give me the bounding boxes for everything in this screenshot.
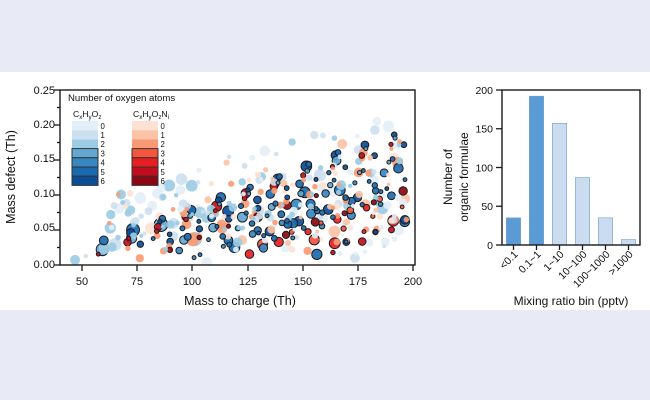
scatter-point: [224, 160, 230, 166]
scatter-point: [271, 188, 277, 194]
scatter-point: [201, 257, 211, 267]
scatter-point: [333, 171, 338, 176]
scatter-point: [343, 195, 349, 201]
scatter-point: [288, 138, 295, 145]
legend-swatches: 00112233445566: [72, 121, 166, 186]
scatter-point: [303, 247, 311, 255]
scatter-point: [289, 246, 295, 252]
bar-ytick-label-50: 50: [481, 201, 493, 213]
scatter-xtick-2: 100: [183, 276, 201, 288]
scatter-point: [301, 173, 306, 178]
scatter-point: [263, 167, 268, 172]
scatter-point: [358, 238, 366, 246]
legend-level-label-blue-5: 5: [101, 168, 106, 177]
scatter-point: [306, 174, 313, 181]
scatter-point: [241, 192, 246, 197]
scatter-point: [99, 236, 108, 245]
scatter-point: [233, 237, 243, 247]
scatter-point: [249, 221, 255, 227]
scatter-point: [388, 192, 396, 200]
bar-x-ticks: <0.10.1~11~1010~100100~1000>1000: [497, 245, 635, 290]
scatter-xtick-6: 200: [404, 276, 422, 288]
scatter-point: [403, 178, 407, 182]
scatter-svg: Mass defect (Th) 0.25 0.20 0.15 0.10 0.0…: [0, 72, 440, 310]
scatter-point: [207, 238, 211, 242]
legend-swatch-red-3: [132, 149, 158, 158]
scatter-point: [154, 229, 159, 234]
scatter-point: [337, 139, 347, 149]
scatter-point: [196, 226, 202, 232]
scatter-point: [259, 177, 263, 181]
scatter-point: [177, 206, 184, 213]
legend-swatch-blue-1: [72, 130, 98, 139]
scatter-point: [314, 194, 318, 198]
scatter-point: [163, 247, 168, 252]
scatter-point: [388, 227, 394, 233]
scatter-point: [106, 210, 115, 219]
bar-xtick-label-1: 0.1~1: [516, 249, 543, 276]
legend-swatch-blue-5: [72, 167, 98, 176]
legend-column1-header: CxHyOz: [73, 109, 101, 121]
scatter-point: [392, 213, 397, 218]
scatter-panel: Mass defect (Th) 0.25 0.20 0.15 0.10 0.0…: [0, 72, 440, 310]
scatter-point: [347, 207, 354, 214]
scatter-point: [96, 252, 100, 256]
scatter-xtick-3: 125: [239, 276, 257, 288]
scatter-point: [332, 178, 336, 182]
scatter-point: [360, 203, 364, 207]
scatter-point: [186, 180, 198, 192]
scatter-point: [395, 194, 402, 201]
scatter-ytick-1: 0.20: [34, 119, 55, 131]
scatter-point: [231, 214, 237, 220]
bars-group: [506, 96, 635, 245]
scatter-point: [373, 117, 382, 126]
legend-title: Number of oxygen atoms: [68, 93, 175, 104]
bar-ytick-label-150: 150: [475, 124, 493, 136]
scatter-point: [192, 256, 196, 260]
scatter-xtick-5: 175: [349, 276, 367, 288]
scatter-point: [158, 219, 162, 223]
scatter-y-axis-title: Mass defect (Th): [4, 130, 18, 224]
scatter-point: [274, 152, 279, 157]
scatter-point: [342, 211, 347, 216]
scatter-point: [331, 205, 335, 209]
scatter-point: [137, 241, 143, 247]
scatter-point: [306, 161, 312, 167]
scatter-point: [84, 254, 88, 258]
scatter-point: [331, 167, 335, 171]
scatter-y-ticks: 0.25 0.20 0.15 0.10 0.05 0.00: [34, 85, 60, 271]
scatter-point: [166, 220, 174, 228]
scatter-point: [242, 163, 248, 169]
bar-chart-svg: Number of organic formulae 050100150200 …: [430, 72, 650, 310]
scatter-point: [134, 192, 146, 204]
scatter-point: [386, 173, 391, 178]
scatter-point: [171, 207, 176, 212]
scatter-x-axis-title: Mass to charge (Th): [184, 294, 296, 308]
bar-xtick-label-5: >1000: [606, 249, 635, 278]
scatter-point: [370, 125, 380, 135]
legend-level-label-red-5: 5: [161, 168, 166, 177]
scatter-point: [363, 250, 367, 254]
scatter-point: [331, 250, 335, 254]
scatter-point: [290, 183, 295, 188]
scatter-point: [299, 215, 303, 219]
scatter-point: [222, 214, 227, 219]
scatter-point: [392, 236, 398, 242]
scatter-point: [372, 211, 376, 215]
scatter-point: [201, 209, 205, 213]
scatter-point: [337, 182, 341, 186]
scatter-point: [312, 249, 322, 259]
scatter-point: [332, 135, 338, 141]
scatter-point: [371, 200, 376, 205]
legend-swatch-blue-6: [72, 176, 98, 185]
scatter-point: [250, 155, 256, 161]
scatter-point: [220, 234, 226, 240]
bar-chart-panel: Number of organic formulae 050100150200 …: [430, 72, 650, 310]
scatter-point: [298, 191, 304, 197]
scatter-point: [125, 246, 130, 251]
legend-level-label-blue-2: 2: [101, 140, 105, 149]
bar-ytick-label-0: 0: [487, 240, 493, 252]
scatter-point: [338, 155, 343, 160]
scatter-point: [289, 212, 295, 218]
scatter-point: [233, 247, 239, 253]
bar-y-axis-title-text2: organic formulae: [457, 132, 471, 222]
scatter-point: [347, 170, 353, 176]
scatter-point: [371, 169, 376, 174]
scatter-point: [353, 181, 357, 185]
bar-0[interactable]: [506, 218, 520, 245]
scatter-point: [331, 215, 336, 220]
scatter-point: [341, 226, 346, 231]
scatter-point: [301, 226, 306, 231]
scatter-point: [209, 181, 214, 186]
scatter-point: [151, 237, 155, 241]
bar-ytick-label-200: 200: [475, 85, 493, 97]
bar-y-ticks: 050100150200: [475, 85, 502, 252]
legend-swatch-red-5: [132, 167, 158, 176]
bar-ytick-label-100: 100: [475, 162, 493, 174]
scatter-point: [400, 205, 404, 209]
oxygen-legend: Number of oxygen atoms CxHyOz CxHyOzNi 0…: [68, 93, 175, 186]
scatter-point: [362, 230, 366, 234]
scatter-point: [310, 131, 318, 139]
scatter-point: [367, 155, 373, 161]
scatter-point: [138, 213, 144, 219]
scatter-point: [221, 244, 225, 248]
scatter-point: [197, 235, 201, 239]
scatter-point: [278, 211, 285, 218]
scatter-point: [136, 254, 144, 262]
scatter-point: [382, 245, 386, 249]
legend-swatch-red-4: [132, 158, 158, 167]
scatter-point: [238, 203, 243, 208]
scatter-point: [379, 190, 383, 194]
scatter-point: [198, 253, 202, 257]
scatter-point: [70, 255, 80, 265]
scatter-xtick-0: 50: [76, 276, 88, 288]
scatter-point: [336, 190, 341, 195]
scatter-point: [344, 240, 348, 244]
scatter-point: [401, 142, 407, 148]
scatter-point: [272, 220, 278, 226]
scatter-point: [285, 240, 291, 246]
scatter-point: [378, 225, 384, 231]
scatter-point: [359, 153, 365, 159]
bar-y-axis-title: Number of organic formulae: [441, 132, 471, 222]
scatter-point: [389, 142, 393, 146]
scatter-point: [247, 178, 252, 183]
scatter-ytick-0: 0.25: [34, 85, 55, 97]
scatter-point: [249, 231, 256, 238]
legend-swatch-blue-3: [72, 149, 98, 158]
scatter-point: [116, 192, 120, 196]
scatter-point: [277, 174, 283, 180]
scatter-point: [314, 177, 318, 181]
scatter-point: [176, 247, 183, 254]
scatter-point: [310, 192, 315, 197]
scatter-point: [327, 170, 331, 174]
scatter-point: [322, 190, 329, 197]
scatter-point: [205, 211, 210, 216]
scatter-xtick-4: 150: [294, 276, 312, 288]
scatter-point: [175, 221, 179, 225]
scatter-point: [209, 214, 214, 219]
scatter-point: [279, 220, 285, 226]
scatter-point: [142, 231, 146, 235]
scatter-point: [215, 225, 219, 229]
scatter-point: [357, 170, 361, 174]
scatter-point: [139, 234, 143, 238]
scatter-point: [397, 139, 402, 144]
scatter-point: [377, 213, 383, 219]
scatter-point: [265, 214, 269, 218]
scatter-point: [365, 170, 372, 177]
scatter-point: [367, 180, 371, 184]
scatter-point: [334, 239, 341, 246]
bar-y-axis-title-text: Number of: [441, 148, 455, 205]
legend-level-label-blue-1: 1: [101, 131, 105, 140]
scatter-point: [384, 201, 392, 209]
scatter-point: [343, 165, 348, 170]
scatter-point: [404, 217, 409, 222]
scatter-point: [227, 242, 232, 247]
scatter-point: [259, 146, 270, 157]
scatter-point: [180, 226, 185, 231]
scatter-point: [242, 196, 247, 201]
scatter-point: [160, 194, 166, 200]
scatter-point: [244, 211, 248, 215]
scatter-point: [184, 233, 191, 240]
scatter-point: [372, 183, 377, 188]
scatter-point: [109, 225, 114, 230]
bar-x-axis-title: Mixing ratio bin (pptv): [514, 294, 629, 308]
scatter-point: [389, 147, 393, 151]
scatter-point: [373, 230, 377, 234]
scatter-point: [107, 221, 112, 226]
scatter-point: [399, 187, 407, 195]
scatter-point: [251, 216, 256, 221]
scatter-point: [259, 244, 267, 252]
scatter-point: [252, 206, 256, 210]
scatter-point: [285, 195, 290, 200]
scatter-point: [284, 186, 289, 191]
scatter-point: [227, 155, 231, 159]
scatter-point: [176, 173, 188, 185]
scatter-point: [285, 218, 290, 223]
scatter-point: [254, 196, 262, 204]
scatter-point: [267, 225, 275, 233]
scatter-point: [314, 170, 321, 177]
scatter-point: [393, 136, 397, 140]
scatter-point: [329, 226, 341, 238]
scatter-point: [237, 225, 242, 230]
scatter-ytick-4: 0.05: [34, 222, 55, 234]
scatter-x-ticks: 50 75 100 125 150 175 200: [76, 265, 422, 288]
scatter-point: [305, 169, 310, 174]
scatter-point: [319, 221, 323, 225]
legend-swatch-red-6: [132, 176, 158, 185]
legend-swatch-red-1: [132, 130, 158, 139]
scatter-point: [319, 182, 327, 190]
scatter-point: [184, 207, 189, 212]
scatter-point: [348, 225, 353, 230]
scatter-point: [378, 202, 382, 206]
scatter-point: [245, 250, 254, 259]
scatter-point: [196, 168, 201, 173]
scatter-point: [351, 204, 355, 208]
legend-swatch-blue-2: [72, 139, 98, 148]
scatter-point: [356, 191, 363, 198]
scatter-point: [343, 219, 350, 226]
legend-swatch-red-0: [132, 121, 158, 130]
scatter-point: [190, 212, 194, 216]
scatter-point: [167, 232, 172, 237]
scatter-point: [298, 202, 303, 207]
scatter-point: [312, 184, 317, 189]
scatter-point: [319, 238, 323, 242]
scatter-point: [161, 225, 165, 229]
scatter-point: [227, 201, 232, 206]
scatter-point: [262, 234, 266, 238]
scatter-point: [320, 133, 326, 139]
scatter-point: [328, 182, 333, 187]
bar-3[interactable]: [575, 178, 589, 245]
scatter-point: [174, 193, 179, 198]
scatter-point: [348, 184, 352, 188]
scatter-point: [394, 163, 404, 173]
scatter-point: [387, 183, 391, 187]
scatter-point: [293, 228, 297, 232]
legend-level-label-blue-4: 4: [101, 159, 106, 168]
scatter-point: [257, 231, 261, 235]
scatter-point: [361, 169, 365, 173]
scatter-point: [396, 157, 403, 164]
scatter-ytick-2: 0.15: [34, 153, 55, 165]
legend-level-label-red-0: 0: [161, 122, 166, 131]
legend-column2-header: CxHyOzNi: [133, 109, 169, 121]
scatter-point: [383, 121, 394, 132]
legend-level-label-red-2: 2: [161, 140, 165, 149]
scatter-point: [315, 230, 319, 234]
scatter-point: [271, 235, 277, 241]
scatter-point: [314, 207, 318, 211]
scatter-point: [218, 202, 222, 206]
scatter-point: [338, 251, 343, 256]
scatter-point: [222, 227, 226, 231]
scatter-point: [364, 147, 368, 151]
scatter-point: [238, 178, 245, 185]
legend-level-label-red-6: 6: [161, 177, 165, 186]
scatter-point: [291, 236, 295, 240]
bar-5[interactable]: [621, 240, 635, 245]
scatter-point: [184, 217, 189, 222]
scatter-point: [111, 202, 118, 209]
legend-level-label-blue-3: 3: [101, 149, 105, 158]
bar-1[interactable]: [529, 96, 543, 245]
legend-level-label-red-1: 1: [161, 131, 165, 140]
scatter-point: [204, 196, 211, 203]
scatter-point: [131, 223, 135, 227]
scatter-point: [311, 218, 319, 226]
scatter-ytick-3: 0.10: [34, 188, 55, 200]
scatter-point: [270, 177, 274, 181]
scatter-point: [387, 160, 391, 164]
scatter-point: [273, 201, 278, 206]
legend-level-label-red-4: 4: [161, 159, 166, 168]
scatter-point: [228, 181, 234, 187]
scatter-point: [127, 236, 131, 240]
scatter-point: [282, 231, 289, 238]
scatter-point: [320, 210, 325, 215]
scatter-point: [308, 203, 314, 209]
scatter-point: [115, 235, 121, 241]
legend-level-label-red-3: 3: [161, 149, 165, 158]
svg-text:CxHyOzNi: CxHyOzNi: [133, 109, 169, 121]
scatter-point: [196, 180, 200, 184]
figure-canvas: Mass defect (Th) 0.25 0.20 0.15 0.10 0.0…: [0, 72, 650, 310]
scatter-point: [281, 203, 285, 207]
scatter-xtick-1: 75: [131, 276, 143, 288]
legend-swatch-blue-0: [72, 121, 98, 130]
scatter-point: [197, 219, 201, 223]
scatter-ytick-5: 0.00: [34, 259, 55, 271]
scatter-point: [388, 218, 394, 224]
scatter-point: [365, 239, 373, 247]
scatter-point: [255, 171, 261, 177]
scatter-point: [213, 209, 217, 213]
bar-4[interactable]: [598, 218, 612, 245]
scatter-point: [125, 209, 132, 216]
bar-plot-frame: [502, 90, 640, 245]
bar-2[interactable]: [552, 123, 566, 245]
scatter-point: [107, 242, 117, 252]
scatter-point: [390, 157, 395, 162]
scatter-point: [318, 165, 323, 170]
scatter-point: [258, 189, 264, 195]
svg-text:CxHyOz: CxHyOz: [73, 109, 101, 121]
legend-swatch-red-2: [132, 139, 158, 148]
legend-level-label-blue-0: 0: [101, 122, 106, 131]
scatter-points-group: [70, 117, 410, 267]
scatter-point: [301, 177, 306, 182]
legend-level-label-blue-6: 6: [101, 177, 105, 186]
scatter-point: [354, 251, 358, 255]
scatter-point: [145, 207, 153, 215]
